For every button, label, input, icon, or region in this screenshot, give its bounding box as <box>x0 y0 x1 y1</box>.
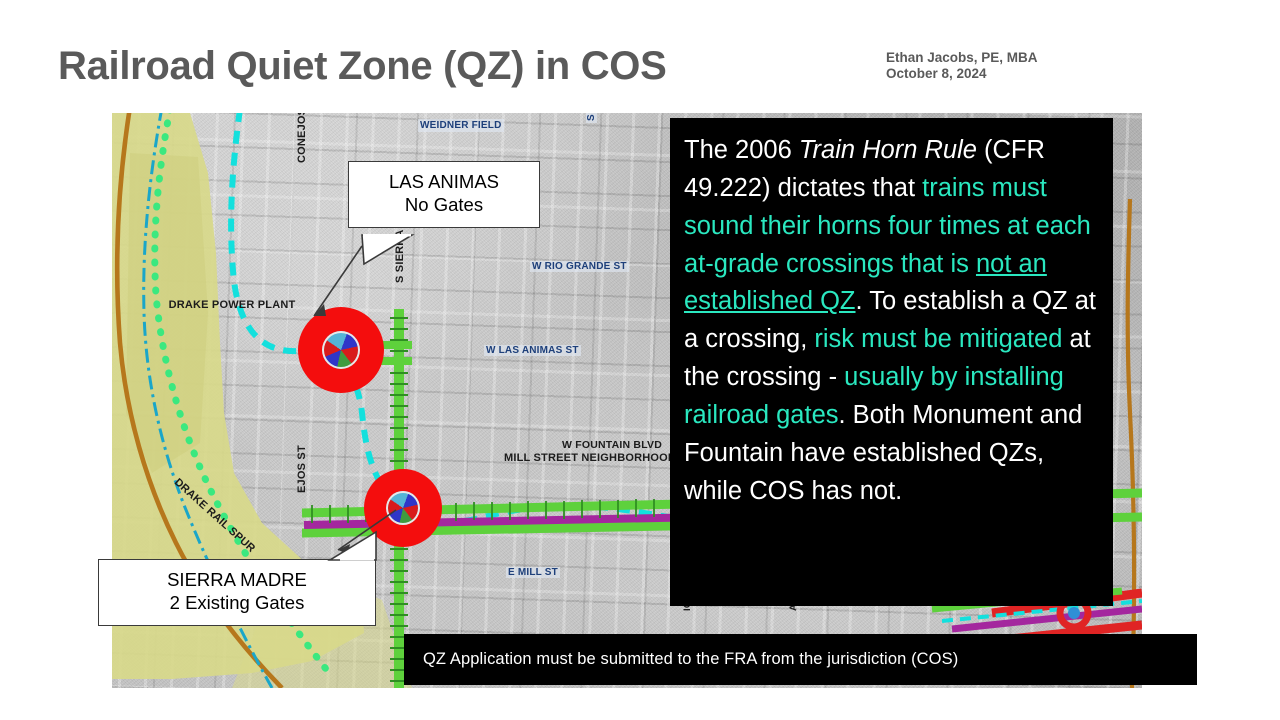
text-seg-0: The 2006 <box>684 136 799 164</box>
callout-las-animas-line1: LAS ANIMAS <box>361 170 527 193</box>
caption-text: QZ Application must be submitted to the … <box>423 650 958 669</box>
byline-date: October 8, 2024 <box>886 66 1038 82</box>
callout-tail-las-animas <box>360 234 430 268</box>
callout-las-animas-line2: No Gates <box>361 193 527 216</box>
byline: Ethan Jacobs, PE, MBA October 8, 2024 <box>886 50 1038 83</box>
page-title: Railroad Quiet Zone (QZ) in COS <box>58 44 667 89</box>
text-seg-1-train-horn-rule: Train Horn Rule <box>799 136 977 164</box>
road-brown-east-spur <box>1128 199 1134 688</box>
crossing-hub-bottom-right <box>1068 607 1080 619</box>
caption-bar: QZ Application must be submitted to the … <box>404 634 1197 685</box>
callout-sierra-madre: SIERRA MADRE 2 Existing Gates <box>98 559 376 626</box>
callout-las-animas: LAS ANIMAS No Gates <box>348 161 540 228</box>
callout-sierra-madre-line2: 2 Existing Gates <box>111 591 363 614</box>
callout-sierra-madre-line1: SIERRA MADRE <box>111 568 363 591</box>
crossing-hub-icon <box>322 331 360 369</box>
parcel-mid-shade <box>126 153 208 473</box>
byline-author: Ethan Jacobs, PE, MBA <box>886 50 1038 66</box>
text-seg-6-risk-must-be-mitigated: risk must be mitigated <box>814 325 1062 353</box>
slide: Railroad Quiet Zone (QZ) in COS Ethan Ja… <box>0 0 1280 720</box>
body-text-panel: The 2006 Train Horn Rule (CFR 49.222) di… <box>670 118 1113 606</box>
callout-tail-sierra-madre <box>300 530 380 564</box>
